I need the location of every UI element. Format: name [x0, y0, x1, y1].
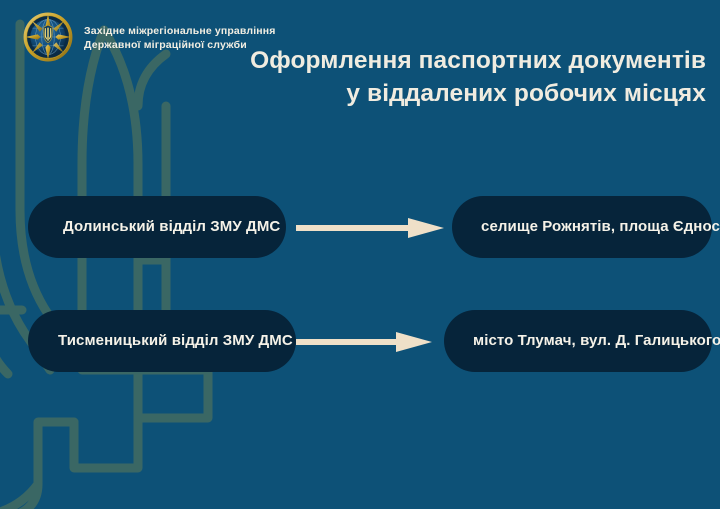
slide-canvas: Західне міжрегіональне управління Держав…: [0, 0, 720, 509]
dms-state-migration-service-emblem-icon: [22, 11, 74, 63]
target-location-pill: селище Рожнятів, площа Єдності, 4: [452, 196, 712, 258]
page-title-line-1: Оформлення паспортних документів: [250, 44, 706, 77]
flow-row: Тисменицький відділ ЗМУ ДМС місто Тлумач…: [0, 310, 720, 372]
target-location-label: місто Тлумач, вул. Д. Галицького, 15: [458, 332, 720, 350]
arrow-right-icon: [296, 218, 444, 238]
organization-line-2: Державної міграційної служби: [84, 38, 276, 53]
flow-row: Долинський відділ ЗМУ ДМС селище Рожняті…: [0, 196, 720, 258]
target-location-pill: місто Тлумач, вул. Д. Галицького, 15: [444, 310, 712, 372]
organization-name: Західне міжрегіональне управління Держав…: [84, 22, 276, 53]
source-office-label: Тисменицький відділ ЗМУ ДМС: [40, 332, 293, 350]
arrow-right-icon: [296, 332, 432, 352]
target-location-label: селище Рожнятів, площа Єдності, 4: [466, 218, 720, 236]
page-title: Оформлення паспортних документів у відда…: [250, 44, 706, 110]
source-office-label: Долинський відділ ЗМУ ДМС: [40, 218, 280, 236]
source-office-pill: Тисменицький відділ ЗМУ ДМС: [28, 310, 296, 372]
brand-header: Західне міжрегіональне управління Держав…: [22, 11, 276, 63]
page-title-line-2: у віддалених робочих місцях: [250, 77, 706, 110]
ukrainian-trident-watermark: [0, 14, 278, 509]
organization-line-1: Західне міжрегіональне управління: [84, 24, 276, 39]
source-office-pill: Долинський відділ ЗМУ ДМС: [28, 196, 286, 258]
